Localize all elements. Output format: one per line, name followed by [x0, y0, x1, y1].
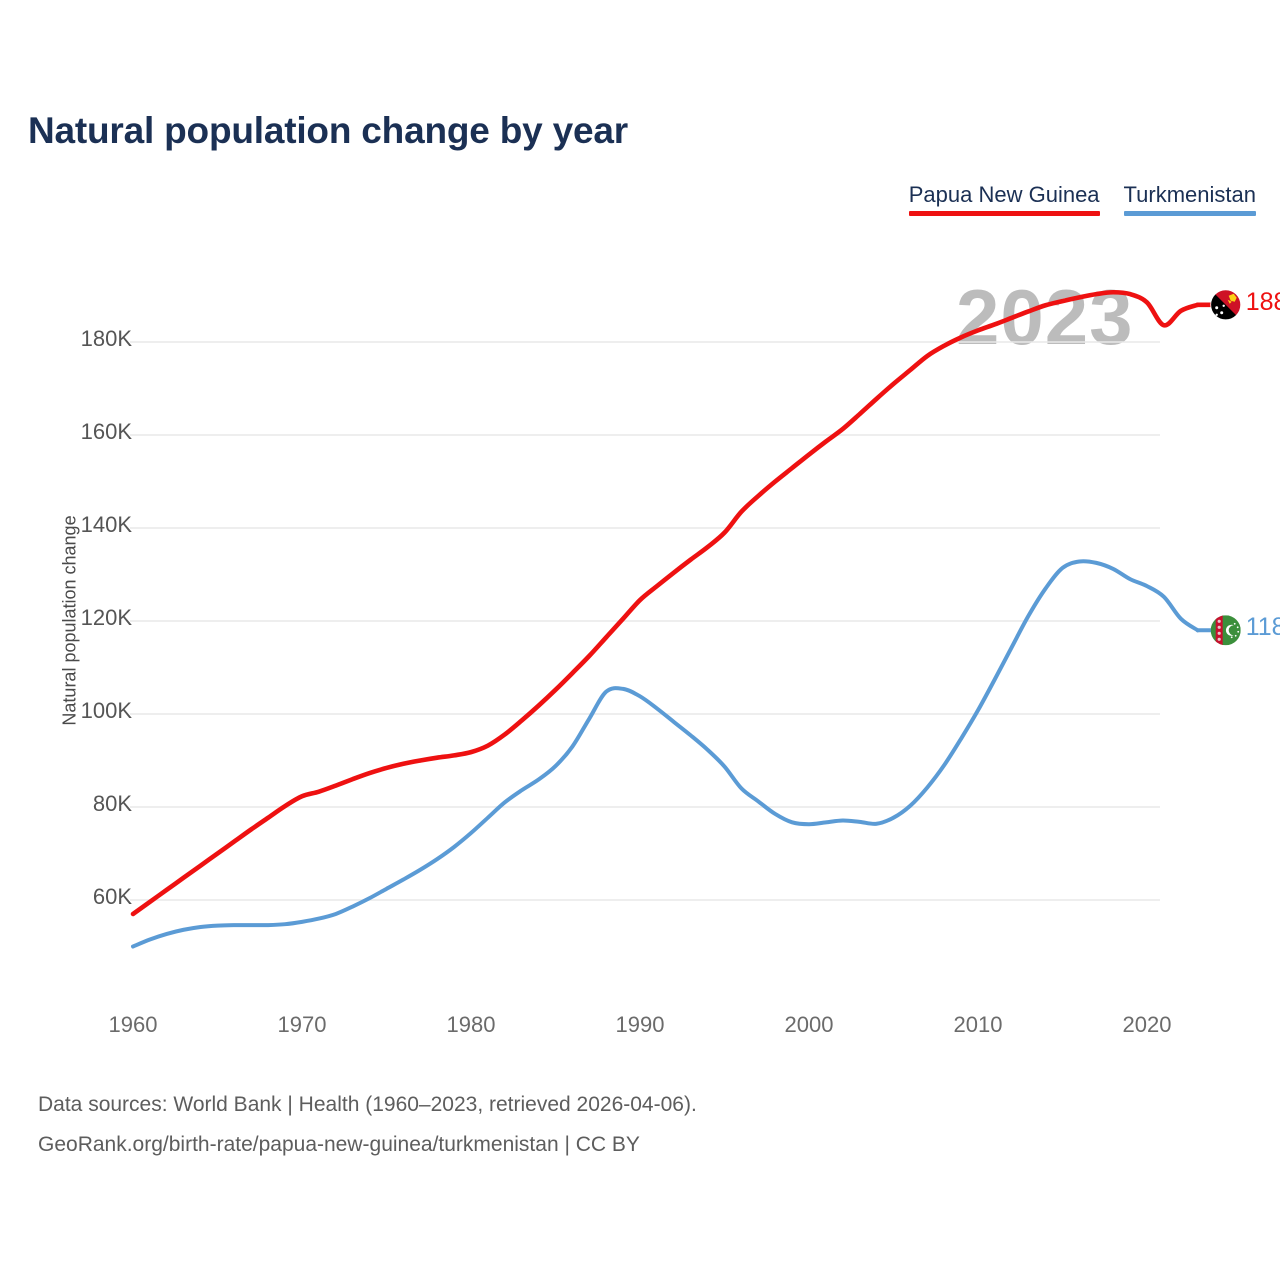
series-line-turkmenistan [133, 561, 1198, 946]
end-label-turkmenistan: 118K [1246, 613, 1280, 642]
footer: Data sources: World Bank | Health (1960–… [38, 1085, 697, 1165]
turkmenistan-flag-icon [1211, 615, 1241, 645]
gridlines [130, 342, 1160, 900]
papua-new-guinea-flag-icon [1211, 290, 1241, 320]
chart-page: Natural population change by year Papua … [0, 0, 1280, 1280]
footer-attribution: GeoRank.org/birth-rate/papua-new-guinea/… [38, 1125, 697, 1165]
end-label-papua-new-guinea: 188K [1246, 288, 1280, 317]
footer-data-sources: Data sources: World Bank | Health (1960–… [38, 1085, 697, 1125]
series-lines [133, 292, 1213, 946]
